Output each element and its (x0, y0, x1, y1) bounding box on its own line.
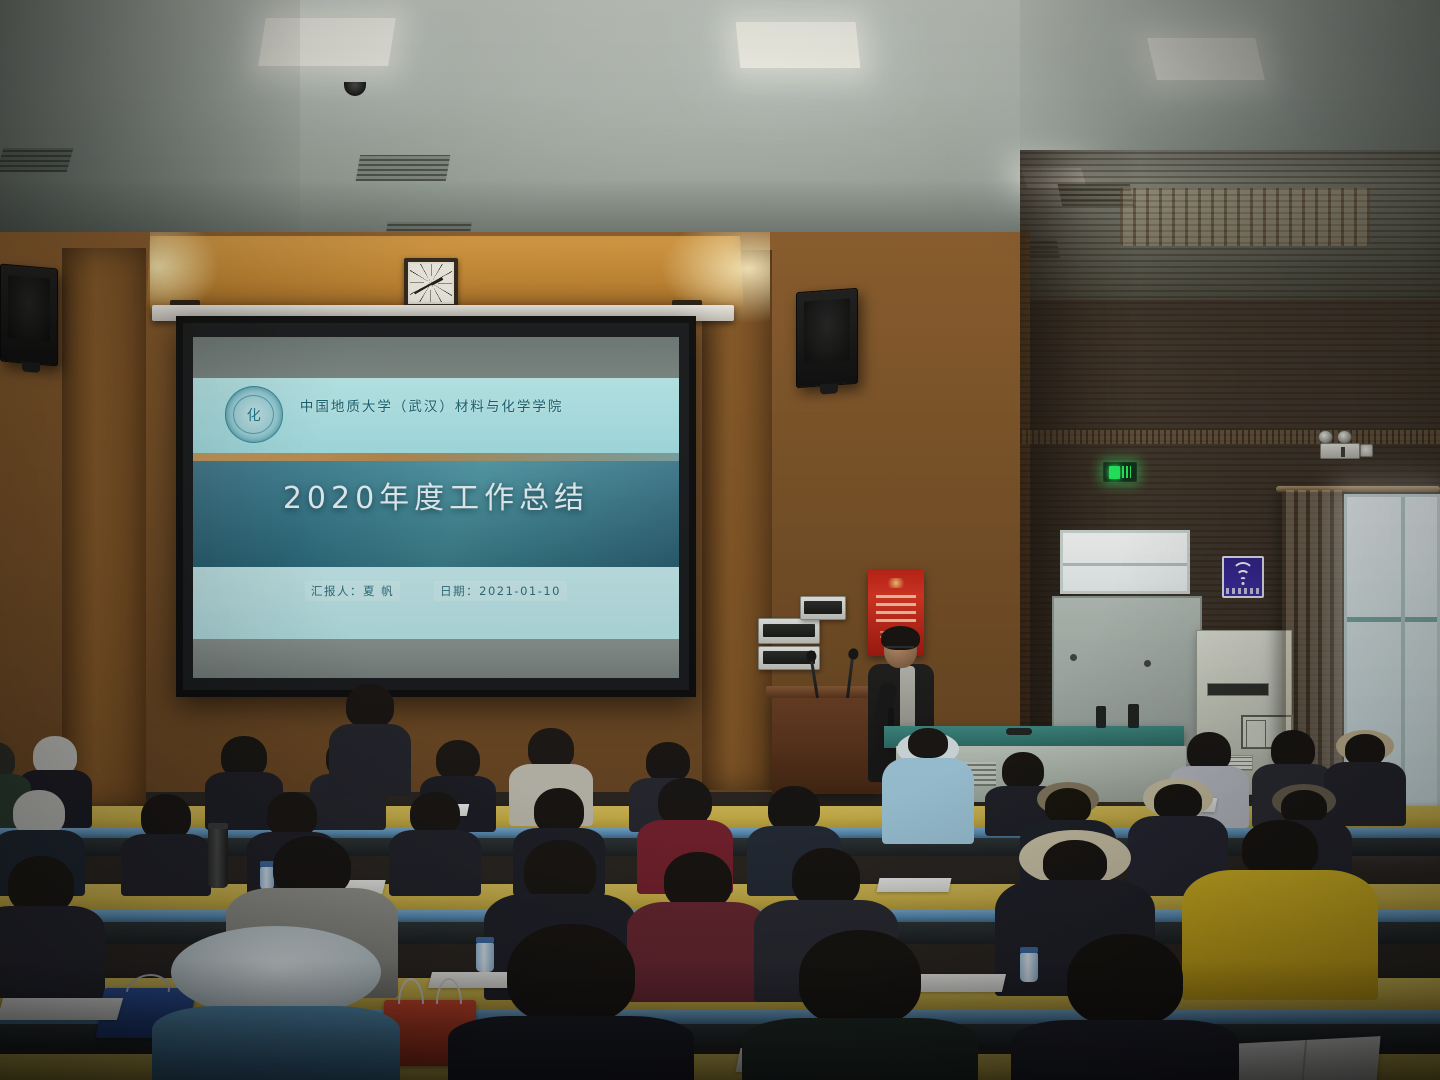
wifi-sign-caption (1226, 588, 1260, 594)
wifi-sign (1222, 556, 1264, 598)
presentation-slide: 中国地质大学（武汉）材料与化学学院 2020年度工作总结 汇报人：夏 帆 日期：… (193, 337, 679, 678)
emergency-twin-light (1318, 430, 1368, 446)
poster-emblem-icon (885, 578, 907, 588)
dome-security-camera (344, 82, 366, 96)
board-knob-2 (1144, 660, 1151, 667)
wood-pilaster-left (62, 248, 146, 808)
wood-pilaster-right (702, 250, 772, 790)
speaker-bracket-right (820, 383, 838, 394)
slide-divider-rule (193, 453, 679, 462)
poster-headline (876, 592, 916, 622)
emergency-lamp-head-right (1337, 430, 1352, 444)
slide-lower-band (193, 567, 679, 639)
slide-top-bar (193, 337, 679, 378)
exit-arrow-icon (1122, 466, 1131, 478)
wifi-icon (1232, 569, 1254, 586)
exit-running-man-icon (1109, 466, 1120, 479)
wall-speaker-right (796, 288, 858, 388)
attendee-head (346, 684, 394, 728)
attendee-head (1154, 784, 1202, 820)
attendee-head (658, 778, 712, 826)
slide-bottom-bar (193, 639, 679, 678)
attendee-head (524, 840, 596, 902)
university-emblem-icon (225, 386, 283, 442)
screen-surface: 中国地质大学（武汉）材料与化学学院 2020年度工作总结 汇报人：夏 帆 日期：… (183, 323, 689, 690)
attendee-head (1045, 788, 1091, 824)
attendee-head (1281, 790, 1327, 824)
air-vent-1 (356, 155, 451, 181)
panel-window-1 (763, 624, 816, 637)
foreground-shadow (0, 960, 1440, 1080)
light-panel-2 (736, 22, 861, 68)
front-desk-item-3 (1006, 728, 1032, 735)
presenter-glasses-icon (886, 646, 914, 652)
electrical-panel-1 (758, 618, 820, 644)
cabinet-slot (1207, 683, 1269, 696)
slide-meta-row: 汇报人：夏 帆 日期：2021-01-10 (193, 581, 679, 601)
attendee-head (792, 848, 860, 908)
exit-sign (1103, 462, 1137, 482)
upper-wall-curtain (1120, 188, 1370, 246)
attendee-body (329, 724, 411, 796)
slide-title-text: 2020年度工作总结 (193, 473, 679, 517)
emergency-light-side-module (1360, 444, 1373, 457)
speaker-bracket-left (22, 361, 40, 373)
emergency-lamp-head-left (1318, 430, 1333, 444)
panel-window-2 (804, 601, 843, 613)
electrical-panel-2 (800, 596, 846, 620)
board-knob-1 (1070, 654, 1077, 661)
attendee-head (646, 742, 690, 782)
projection-screen: 中国地质大学（武汉）材料与化学学院 2020年度工作总结 汇报人：夏 帆 日期：… (176, 316, 696, 697)
attendee-head (908, 728, 948, 758)
lecture-hall-photo: 中国地质大学（武汉）材料与化学学院 2020年度工作总结 汇报人：夏 帆 日期：… (0, 0, 1440, 1080)
front-desk-item-2 (1128, 704, 1139, 728)
front-desk-item-1 (1096, 706, 1106, 728)
attendee-head (1002, 752, 1044, 790)
slide-date-text: 日期：2021-01-10 (434, 581, 567, 601)
wall-speaker-left (0, 263, 58, 366)
wifi-dot (1242, 582, 1245, 585)
wall-clock (404, 258, 458, 308)
slide-presenter-text: 汇报人：夏 帆 (305, 581, 400, 601)
emergency-light-body (1320, 443, 1360, 459)
window-bar (1063, 563, 1187, 566)
attendee-head (436, 740, 480, 780)
slide-organization-text: 中国地质大学（武汉）材料与化学学院 (300, 395, 660, 415)
window-mullion-horizontal (1347, 617, 1437, 622)
bottle-cap (208, 823, 228, 829)
interior-window (1060, 530, 1190, 594)
